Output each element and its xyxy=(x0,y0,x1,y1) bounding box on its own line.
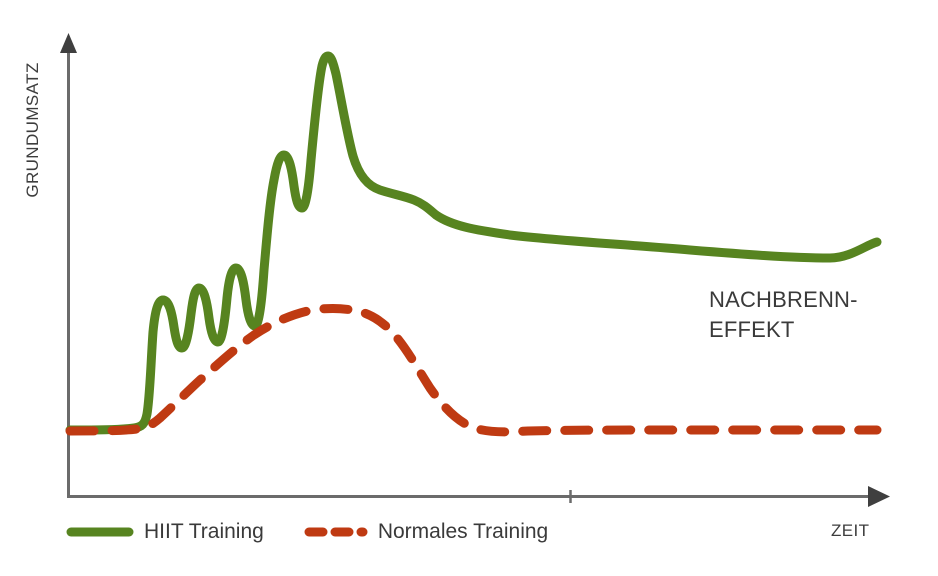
series-line-hiit xyxy=(70,56,877,430)
legend-label-hiit: HIIT Training xyxy=(144,520,264,544)
x-axis xyxy=(67,486,890,507)
annotation-line-2: EFFEKT xyxy=(709,315,919,345)
annotation-line-1: NACHBRENN- xyxy=(709,285,919,315)
legend-item-hiit[interactable]: HIIT Training xyxy=(66,520,264,544)
annotation-nachbrenneffekt: NACHBRENN- EFFEKT xyxy=(709,285,919,345)
chart-canvas: GRUNDUMSATZ ZEIT NACHBRENN- EFFEKT HIIT … xyxy=(0,0,938,576)
legend-label-normal: Normales Training xyxy=(378,520,548,544)
y-axis-label: GRUNDUMSATZ xyxy=(23,62,43,197)
chart-legend: HIIT Training Normales Training xyxy=(66,520,548,544)
legend-swatch-dashed-icon xyxy=(304,526,368,538)
x-axis-label: ZEIT xyxy=(831,521,869,541)
legend-item-normal[interactable]: Normales Training xyxy=(304,520,548,544)
legend-swatch-solid-icon xyxy=(66,526,134,538)
